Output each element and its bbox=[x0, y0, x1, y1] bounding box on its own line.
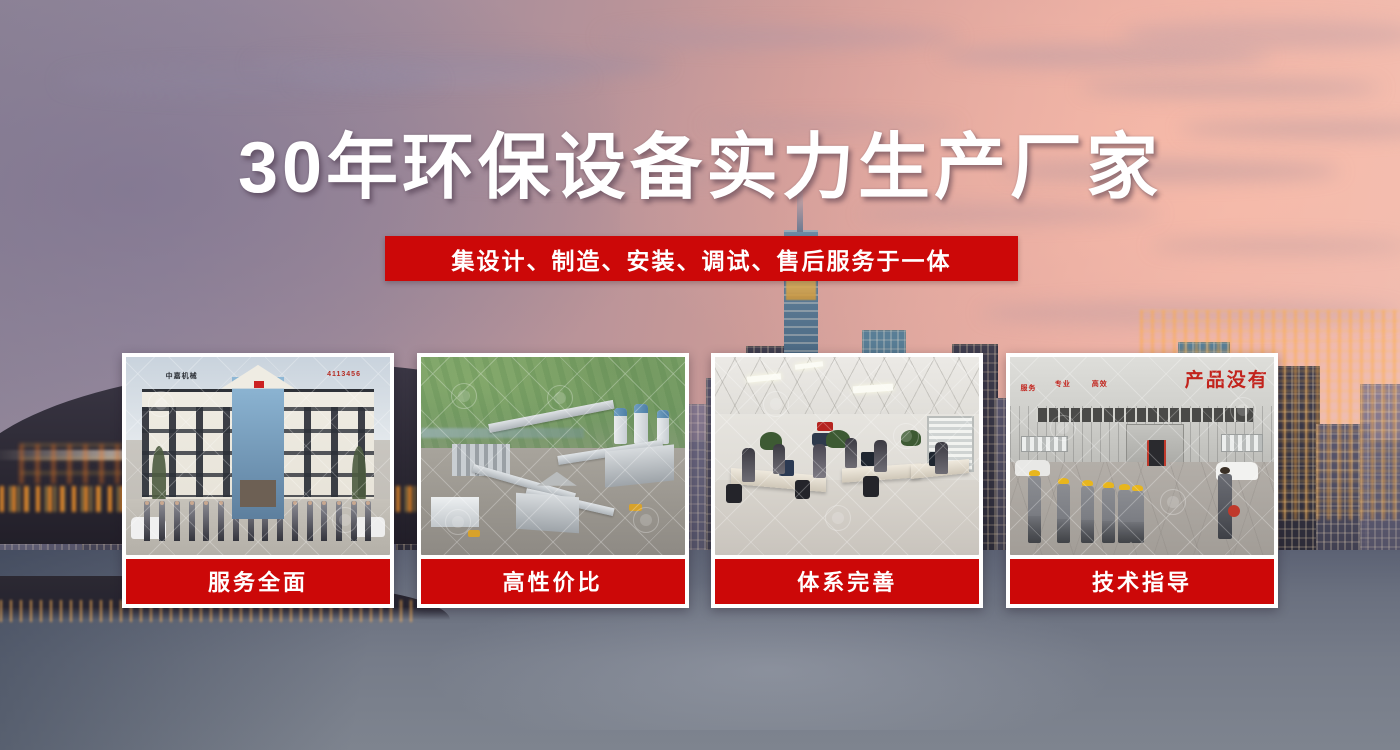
feature-card[interactable]: 高性价比 bbox=[417, 353, 689, 608]
cloud bbox=[1120, 20, 1400, 50]
watermark-logo-icon bbox=[148, 391, 174, 417]
building-entrance bbox=[240, 480, 277, 508]
watermark-logo-icon bbox=[332, 507, 358, 533]
worker-with-hardhat bbox=[1081, 486, 1094, 543]
staff-person bbox=[159, 501, 165, 541]
feature-card[interactable]: 体系完善 bbox=[711, 353, 983, 608]
watermark-logo-icon bbox=[451, 383, 477, 409]
staff-person bbox=[292, 501, 298, 541]
factory-side-door bbox=[1147, 440, 1165, 466]
watermark-logo-icon bbox=[445, 509, 471, 535]
staff-person bbox=[307, 501, 313, 541]
card-caption-text: 高性价比 bbox=[503, 565, 603, 597]
page-title: 30年环保设备实力生产厂家 bbox=[0, 132, 1400, 204]
watermark-logo-icon bbox=[633, 507, 659, 533]
office-workspace-photo bbox=[715, 357, 979, 555]
worker-with-hardhat bbox=[1057, 484, 1070, 543]
staff-person bbox=[144, 501, 150, 541]
cloud bbox=[60, 66, 440, 96]
flag bbox=[254, 381, 264, 388]
excavator bbox=[468, 530, 480, 537]
watermark-logo-icon bbox=[1050, 415, 1076, 441]
office-worker bbox=[813, 444, 826, 478]
factory-window bbox=[1221, 434, 1263, 452]
watermark-logo-icon bbox=[1160, 489, 1186, 515]
office-worker bbox=[845, 438, 857, 468]
cement-silo bbox=[634, 404, 648, 444]
staff-person bbox=[321, 501, 327, 541]
card-caption: 技术指导 bbox=[1010, 559, 1274, 604]
watermark-logo-icon bbox=[1230, 397, 1256, 423]
card-caption: 高性价比 bbox=[421, 559, 685, 604]
subtitle-text: 集设计、制造、安装、调试、售后服务于一体 bbox=[452, 242, 952, 276]
cloud bbox=[1080, 78, 1380, 98]
aerial-production-plant-photo bbox=[421, 357, 685, 555]
building-sign-right: 4113456 bbox=[327, 371, 361, 378]
factory-slogan-text: 高效 bbox=[1092, 379, 1108, 389]
factory-banner-text: 产品没有 bbox=[1185, 365, 1269, 392]
worker-with-hardhat bbox=[1102, 488, 1115, 543]
promotional-banner: 30年环保设备实力生产厂家 集设计、制造、安装、调试、售后服务于一体 中嘉机械 … bbox=[0, 0, 1400, 750]
worker-with-hardhat bbox=[1118, 490, 1131, 543]
staff-person bbox=[218, 501, 224, 541]
feature-card[interactable]: 中嘉机械 4113456 bbox=[122, 353, 394, 608]
cloud bbox=[600, 26, 960, 48]
card-caption-text: 体系完善 bbox=[797, 565, 897, 597]
building-sign-left: 中嘉机械 bbox=[166, 371, 198, 381]
factory-slogan-text: 服务 bbox=[1021, 383, 1037, 393]
office-worker bbox=[742, 448, 755, 482]
company-headquarters-photo: 中嘉机械 4113456 bbox=[126, 357, 390, 555]
staff-person bbox=[189, 501, 195, 541]
staff-person bbox=[203, 501, 209, 541]
worker-with-hardhat bbox=[1131, 491, 1144, 542]
office-worker bbox=[874, 440, 887, 472]
red-helmet bbox=[1228, 505, 1240, 517]
office-worker bbox=[773, 444, 785, 474]
technical-training-photo: 产品没有 服务 专业 高效 bbox=[1010, 357, 1274, 555]
computer-monitor bbox=[861, 452, 875, 466]
card-caption-text: 服务全面 bbox=[208, 565, 308, 597]
card-caption: 体系完善 bbox=[715, 559, 979, 604]
staff-person bbox=[174, 501, 180, 541]
ceiling-grid bbox=[715, 357, 979, 416]
factory-slogan-text: 专业 bbox=[1055, 379, 1071, 389]
warehouse-shed bbox=[605, 444, 674, 487]
cement-silo bbox=[614, 408, 627, 444]
subtitle-banner: 集设计、制造、安装、调试、售后服务于一体 bbox=[385, 236, 1018, 281]
office-chair bbox=[726, 484, 742, 504]
office-chair bbox=[863, 476, 879, 498]
staff-person bbox=[365, 501, 371, 541]
card-caption: 服务全面 bbox=[126, 559, 390, 604]
card-caption-text: 技术指导 bbox=[1092, 565, 1192, 597]
tree bbox=[352, 446, 366, 505]
office-chair bbox=[795, 480, 810, 500]
warehouse-shed bbox=[516, 493, 579, 533]
watermark-logo-icon bbox=[547, 385, 573, 411]
feature-card-list: 中嘉机械 4113456 bbox=[122, 353, 1278, 608]
feature-card[interactable]: 产品没有 服务 专业 高效 bbox=[1006, 353, 1278, 608]
office-worker bbox=[935, 442, 948, 474]
worker-with-hardhat bbox=[1028, 476, 1041, 543]
